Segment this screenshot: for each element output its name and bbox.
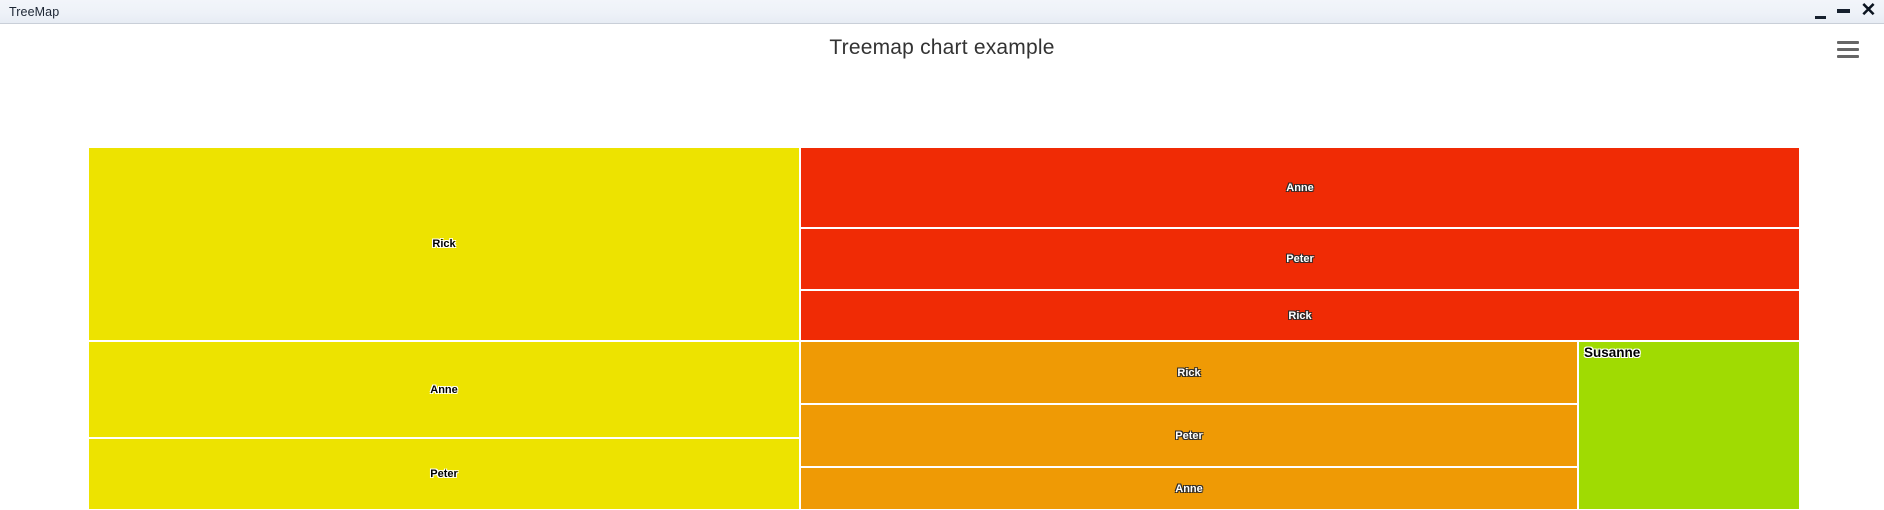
treemap-tile-apples-rick[interactable]: Rick — [800, 290, 1800, 341]
maximize-button[interactable] — [1836, 2, 1851, 24]
menu-bar-2 — [1837, 48, 1859, 51]
treemap-group-label: Susanne — [1584, 345, 1640, 361]
treemap-group-susanne[interactable]: Susanne — [1578, 341, 1800, 510]
treemap-tile-label: Rick — [801, 310, 1799, 322]
treemap-tile-label: Rick — [89, 238, 799, 250]
treemap-tile-oranges-peter[interactable]: Peter — [800, 404, 1578, 467]
treemap-tile-bananas-rick[interactable]: Rick — [88, 147, 800, 341]
treemap-tile-bananas-anne[interactable]: Anne — [88, 341, 800, 438]
window-title: TreeMap — [0, 5, 59, 19]
treemap-tile-label: Peter — [801, 253, 1799, 265]
treemap-tile-apples-peter[interactable]: Peter — [800, 228, 1800, 290]
menu-bar-1 — [1837, 41, 1859, 44]
chart-title: Treemap chart example — [0, 36, 1884, 60]
treemap-tile-label: Rick — [801, 367, 1577, 379]
window-controls: ✕ — [1814, 0, 1884, 24]
treemap-plot: BananasRickAnnePeterApplesAnnePeterRickO… — [88, 147, 1800, 510]
minimize-button[interactable] — [1814, 2, 1827, 24]
treemap-tile-oranges-anne[interactable]: Anne — [800, 467, 1578, 510]
treemap-tile-apples-anne[interactable]: Anne — [800, 147, 1800, 228]
treemap-tile-label: Anne — [801, 483, 1577, 495]
treemap-tile-label: Anne — [89, 384, 799, 396]
treemap-tile-label: Peter — [89, 468, 799, 480]
chart-container: Treemap chart example BananasRickAnnePet… — [0, 24, 1884, 510]
treemap-tile-label: Anne — [801, 182, 1799, 194]
context-menu-icon[interactable] — [1834, 36, 1862, 62]
close-button[interactable]: ✕ — [1860, 2, 1877, 24]
menu-bar-3 — [1837, 55, 1859, 58]
treemap-tile-oranges-rick[interactable]: Rick — [800, 341, 1578, 404]
treemap-tile-bananas-peter[interactable]: Peter — [88, 438, 800, 510]
window-titlebar: TreeMap ✕ — [0, 0, 1884, 24]
treemap-tile-label: Peter — [801, 430, 1577, 442]
